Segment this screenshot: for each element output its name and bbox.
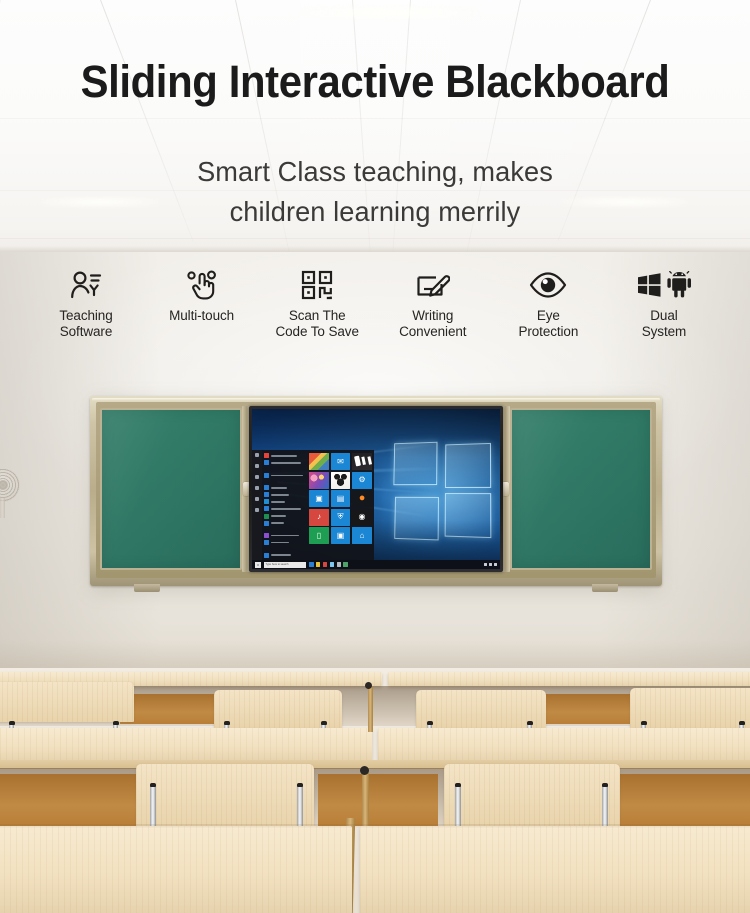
chair-back xyxy=(630,688,750,728)
taskbar-office-icon[interactable] xyxy=(323,562,328,567)
tray-network-icon[interactable] xyxy=(484,563,487,566)
fan-stem xyxy=(0,498,5,518)
shield-icon: ⛨ xyxy=(338,513,344,521)
feature-label: Eye Protection xyxy=(518,308,578,340)
start-menu-rail[interactable] xyxy=(252,450,262,560)
panel-sheen xyxy=(512,410,650,568)
desk-center-post xyxy=(368,686,373,732)
start-menu-tiles[interactable]: ✉ ⚙ ▣ ▤ ● ♪ ⛨ ◉ ▯ ▣ xyxy=(308,450,374,560)
power-icon[interactable] xyxy=(255,508,259,512)
ceiling-tile-seam xyxy=(0,238,750,239)
calculator-icon: ▤ xyxy=(337,495,345,503)
start-list-divider xyxy=(264,547,306,551)
desk-shelf-middle-left xyxy=(0,774,140,826)
xbox-icon: ◉ xyxy=(359,513,366,521)
taskbar-explorer-icon[interactable] xyxy=(316,562,321,567)
feature-dual-system: Dual System xyxy=(608,268,720,340)
start-list-divider xyxy=(264,467,306,471)
start-list-divider xyxy=(264,527,306,531)
store-icon: ⌂ xyxy=(360,532,365,540)
tile-store[interactable]: ⌂ xyxy=(352,527,372,544)
writing-tablet-icon xyxy=(416,268,450,302)
chair-back xyxy=(0,682,134,722)
tile-photo-app[interactable]: ▣ xyxy=(331,527,351,544)
desk-top-front-left xyxy=(0,826,352,913)
qr-code-icon xyxy=(301,268,333,302)
gear-icon: ⚙ xyxy=(358,476,365,484)
chair-back xyxy=(444,764,620,828)
desk-top-middle-left xyxy=(0,728,372,762)
chair-leg xyxy=(297,786,303,828)
start-list-item[interactable] xyxy=(264,533,306,538)
start-list-item[interactable] xyxy=(264,485,306,490)
firefox-icon: ● xyxy=(359,493,366,504)
tile-firefox[interactable]: ● xyxy=(352,490,372,507)
start-list-item[interactable] xyxy=(264,553,306,558)
pictures-icon[interactable] xyxy=(255,486,259,490)
feature-teaching-software: Teaching Software xyxy=(30,268,142,340)
tray-clock[interactable] xyxy=(494,563,497,566)
start-list-item[interactable] xyxy=(264,492,306,497)
windows-logo-icon xyxy=(638,273,661,297)
eye-icon xyxy=(529,268,567,302)
tile-camera[interactable]: ▣ xyxy=(309,490,329,507)
documents-icon[interactable] xyxy=(255,475,259,479)
tile-phone[interactable]: ▯ xyxy=(309,527,329,544)
left-chalkboard-panel[interactable] xyxy=(100,408,242,570)
tile-photos[interactable] xyxy=(309,453,329,470)
classroom-desks xyxy=(0,668,750,913)
tile-settings[interactable]: ⚙ xyxy=(352,472,372,489)
photo-icon: ▣ xyxy=(337,532,345,540)
ceiling-tile-seam xyxy=(0,118,750,119)
start-list-item[interactable] xyxy=(264,506,306,511)
search-placeholder: Type here to search xyxy=(266,563,289,566)
desk-shelf-middle-center xyxy=(318,774,438,826)
chair-leg xyxy=(455,786,461,828)
mail-icon: ✉ xyxy=(337,458,344,466)
desk-post-cap xyxy=(365,682,372,689)
desk-post-cap xyxy=(360,766,369,775)
taskbar-edge-icon[interactable] xyxy=(309,562,314,567)
taskbar-app-icon[interactable] xyxy=(343,562,348,567)
ceiling-light xyxy=(300,6,480,20)
start-button-icon[interactable] xyxy=(255,562,261,568)
start-list-item[interactable] xyxy=(264,540,306,545)
start-list-item[interactable] xyxy=(264,499,306,504)
taskbar-store-icon[interactable] xyxy=(330,562,335,567)
desk-seam xyxy=(0,824,750,828)
start-list-item[interactable] xyxy=(264,453,306,458)
feature-label: Scan The Code To Save xyxy=(276,308,359,340)
tile-music[interactable]: ♪ xyxy=(309,509,329,526)
feature-list: Teaching Software Multi-touch xyxy=(30,268,720,340)
product-banner: Sliding Interactive Blackboard Smart Cla… xyxy=(0,0,750,913)
taskbar-search-input[interactable]: Type here to search xyxy=(264,562,306,568)
dual-os-icon xyxy=(636,268,692,302)
desk-center-post xyxy=(362,772,369,832)
start-list-item[interactable] xyxy=(264,520,306,525)
tray-volume-icon[interactable] xyxy=(489,563,492,566)
feature-label: Teaching Software xyxy=(59,308,112,340)
taskbar-app-icon[interactable] xyxy=(337,562,342,567)
page-subtitle: Smart Class teaching, makes children lea… xyxy=(11,152,739,233)
start-list-item[interactable] xyxy=(264,513,306,518)
feature-multi-touch: Multi-touch xyxy=(146,268,258,324)
taskbar-pinned-apps[interactable] xyxy=(309,562,348,567)
tile-xbox[interactable]: ◉ xyxy=(352,509,372,526)
chair-leg xyxy=(602,786,608,828)
blackboard-mount-bracket-right xyxy=(592,584,618,592)
camera-icon: ▣ xyxy=(315,495,323,503)
display-bezel: ✉ ⚙ ▣ ▤ ● ♪ ⛨ ◉ ▯ ▣ xyxy=(249,406,503,572)
start-menu-app-list[interactable] xyxy=(262,450,308,560)
interactive-display[interactable]: ✉ ⚙ ▣ ▤ ● ♪ ⛨ ◉ ▯ ▣ xyxy=(252,409,500,569)
start-list-item[interactable] xyxy=(264,460,306,465)
hamburger-icon[interactable] xyxy=(255,453,259,457)
right-slide-handle[interactable] xyxy=(502,482,509,496)
start-menu[interactable]: ✉ ⚙ ▣ ▤ ● ♪ ⛨ ◉ ▯ ▣ xyxy=(252,450,374,560)
user-icon[interactable] xyxy=(255,464,259,468)
multi-touch-icon xyxy=(185,268,219,302)
start-list-item[interactable] xyxy=(264,473,306,478)
chair-back xyxy=(136,764,314,828)
tile-mail[interactable]: ✉ xyxy=(331,453,351,470)
music-icon: ♪ xyxy=(317,513,321,521)
wall-fan xyxy=(0,468,20,520)
tile-gallery[interactable] xyxy=(309,472,329,489)
tile-solitaire[interactable] xyxy=(352,453,372,470)
feature-writing-convenient: Writing Convenient xyxy=(377,268,489,340)
start-list-divider xyxy=(264,480,306,484)
chair-leg xyxy=(150,786,156,828)
tile-security[interactable]: ⛨ xyxy=(331,509,351,526)
frame-highlight xyxy=(92,398,660,401)
panel-sheen xyxy=(102,410,240,568)
feature-label: Writing Convenient xyxy=(399,308,466,340)
phone-icon: ▯ xyxy=(317,532,321,540)
right-chalkboard-panel[interactable] xyxy=(510,408,652,570)
desk-top-front-right xyxy=(360,826,750,913)
settings-gear-icon[interactable] xyxy=(255,497,259,501)
tile-disney[interactable] xyxy=(331,472,351,489)
feature-eye-protection: Eye Protection xyxy=(492,268,604,340)
tile-calculator[interactable]: ▤ xyxy=(331,490,351,507)
desk-top-back-right xyxy=(388,672,750,686)
desk-shelf-middle-right xyxy=(620,774,750,826)
feature-label: Dual System xyxy=(642,308,686,340)
taskbar[interactable]: Type here to search xyxy=(252,560,500,569)
subtitle-line-2: children learning merrily xyxy=(11,192,739,232)
system-tray[interactable] xyxy=(484,563,497,566)
desk-top-middle-right xyxy=(378,728,750,762)
subtitle-line-1: Smart Class teaching, makes xyxy=(11,152,739,192)
feature-label: Multi-touch xyxy=(169,308,234,324)
feature-scan-code: Scan The Code To Save xyxy=(261,268,373,340)
sliding-blackboard: ✉ ⚙ ▣ ▤ ● ♪ ⛨ ◉ ▯ ▣ xyxy=(90,396,662,586)
blackboard-mount-bracket-left xyxy=(134,584,160,592)
teaching-software-icon xyxy=(69,268,103,302)
android-logo-icon xyxy=(667,271,691,297)
page-title: Sliding Interactive Blackboard xyxy=(26,58,724,105)
